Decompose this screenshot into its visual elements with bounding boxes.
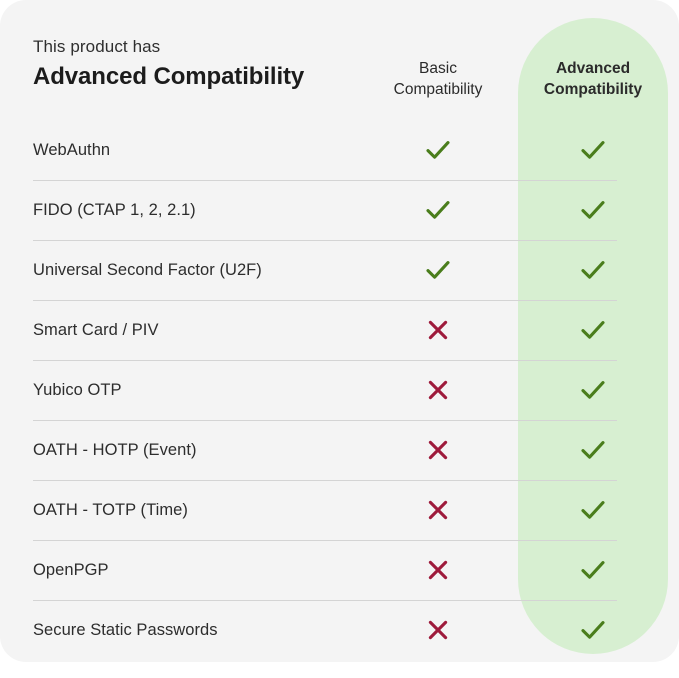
cell-advanced — [518, 420, 668, 480]
table-header: This product has Advanced Compatibility … — [0, 0, 679, 120]
cell-basic — [368, 600, 508, 660]
page-title: This product has Advanced Compatibility — [33, 36, 373, 92]
feature-label: Yubico OTP — [33, 360, 122, 420]
column-header-basic: Basic Compatibility — [368, 58, 508, 100]
cell-advanced — [518, 480, 668, 540]
cell-basic — [368, 120, 508, 180]
cell-advanced — [518, 120, 668, 180]
cell-basic — [368, 240, 508, 300]
title-main: Advanced Compatibility — [33, 62, 373, 92]
cross-icon — [427, 559, 449, 581]
cell-advanced — [518, 600, 668, 660]
check-icon — [580, 499, 606, 521]
compatibility-rows: WebAuthnFIDO (CTAP 1, 2, 2.1)Universal S… — [0, 120, 679, 660]
column-header-basic-line2: Compatibility — [368, 79, 508, 100]
check-icon — [580, 619, 606, 641]
table-row: OATH - TOTP (Time) — [0, 480, 679, 540]
check-icon — [580, 319, 606, 341]
column-header-advanced-line1: Advanced — [518, 58, 668, 79]
feature-label: FIDO (CTAP 1, 2, 2.1) — [33, 180, 196, 240]
table-row: OpenPGP — [0, 540, 679, 600]
title-eyebrow: This product has — [33, 36, 373, 58]
column-header-basic-line1: Basic — [368, 58, 508, 79]
feature-label: OATH - TOTP (Time) — [33, 480, 188, 540]
cross-icon — [427, 619, 449, 641]
cell-advanced — [518, 300, 668, 360]
feature-label: WebAuthn — [33, 120, 110, 180]
table-row: OATH - HOTP (Event) — [0, 420, 679, 480]
cell-basic — [368, 420, 508, 480]
cross-icon — [427, 319, 449, 341]
table-row: WebAuthn — [0, 120, 679, 180]
cross-icon — [427, 499, 449, 521]
feature-label: Secure Static Passwords — [33, 600, 218, 660]
check-icon — [580, 559, 606, 581]
cross-icon — [427, 439, 449, 461]
cell-basic — [368, 480, 508, 540]
cell-basic — [368, 300, 508, 360]
column-header-advanced: Advanced Compatibility — [518, 58, 668, 100]
check-icon — [425, 259, 451, 281]
check-icon — [425, 199, 451, 221]
table-row: FIDO (CTAP 1, 2, 2.1) — [0, 180, 679, 240]
table-row: Yubico OTP — [0, 360, 679, 420]
check-icon — [425, 139, 451, 161]
check-icon — [580, 379, 606, 401]
cell-basic — [368, 180, 508, 240]
cross-icon — [427, 379, 449, 401]
cell-advanced — [518, 540, 668, 600]
cell-advanced — [518, 360, 668, 420]
table-row: Secure Static Passwords — [0, 600, 679, 660]
feature-label: Universal Second Factor (U2F) — [33, 240, 262, 300]
feature-label: OATH - HOTP (Event) — [33, 420, 197, 480]
table-row: Smart Card / PIV — [0, 300, 679, 360]
table-row: Universal Second Factor (U2F) — [0, 240, 679, 300]
feature-label: OpenPGP — [33, 540, 109, 600]
check-icon — [580, 439, 606, 461]
check-icon — [580, 139, 606, 161]
check-icon — [580, 199, 606, 221]
compatibility-card: This product has Advanced Compatibility … — [0, 0, 679, 662]
feature-label: Smart Card / PIV — [33, 300, 159, 360]
cell-advanced — [518, 180, 668, 240]
cell-basic — [368, 360, 508, 420]
column-header-advanced-line2: Compatibility — [518, 79, 668, 100]
cell-advanced — [518, 240, 668, 300]
check-icon — [580, 259, 606, 281]
cell-basic — [368, 540, 508, 600]
